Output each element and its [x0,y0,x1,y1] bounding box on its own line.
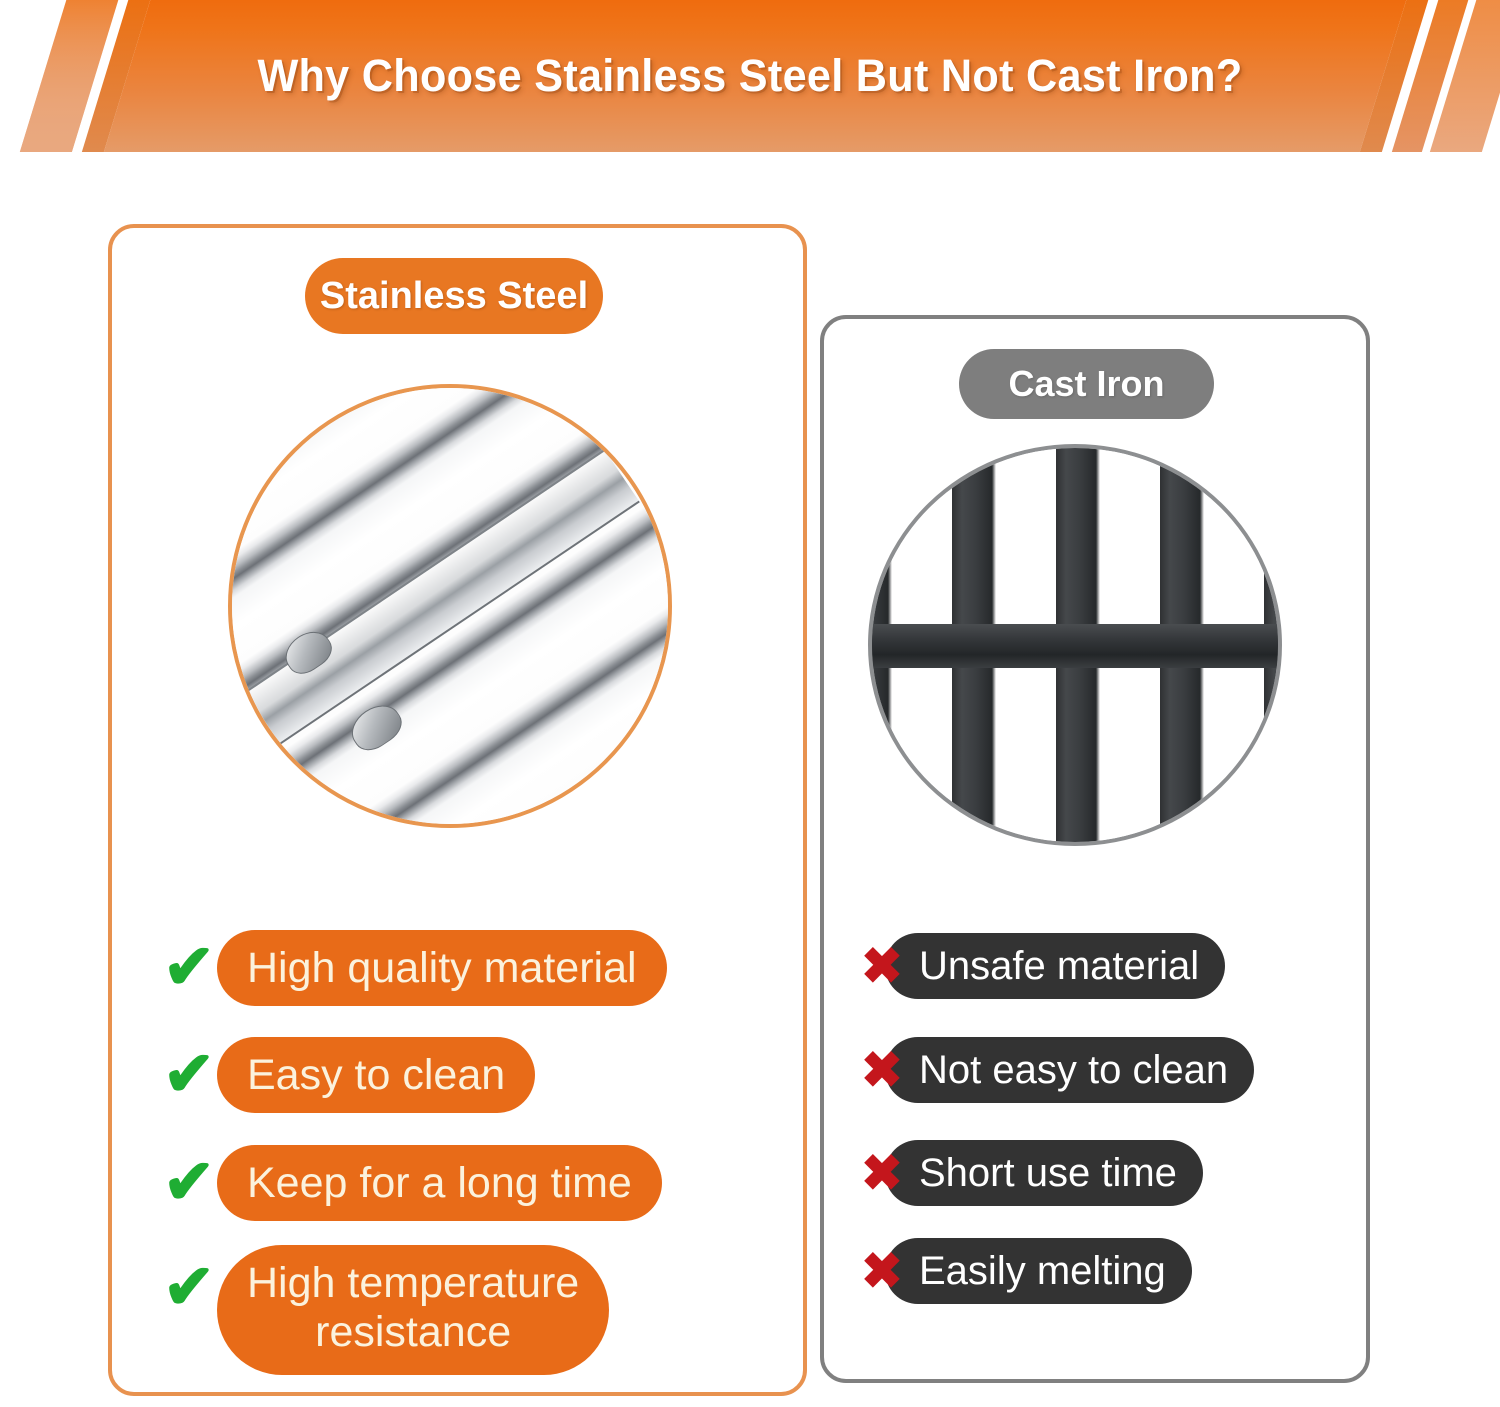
feature-pill-con: Not easy to clean [885,1037,1254,1103]
page-title: Why Choose Stainless Steel But Not Cast … [30,0,1470,152]
cross-icon: ✖ [861,941,911,991]
header-banner: Why Choose Stainless Steel But Not Cast … [0,0,1500,152]
cross-icon: ✖ [861,1045,911,1095]
feature-row-con: ✖ Not easy to clean [861,1037,1254,1103]
check-icon: ✔ [163,937,225,999]
check-icon: ✔ [163,1044,225,1106]
cross-icon: ✖ [861,1148,911,1198]
check-icon: ✔ [163,1152,225,1214]
feature-row-pro: ✔ High temperature resistance [163,1245,609,1375]
feature-row-pro: ✔ Easy to clean [163,1037,535,1113]
feature-row-con: ✖ Easily melting [861,1238,1192,1304]
feature-pill-pro: High quality material [217,930,667,1006]
feature-row-con: ✖ Unsafe material [861,933,1225,999]
stainless-steel-badge: Stainless Steel [305,258,603,334]
feature-pill-line-1: High temperature [247,1259,579,1308]
feature-pill-con: Unsafe material [885,933,1225,999]
check-icon: ✔ [163,1257,225,1319]
feature-row-con: ✖ Short use time [861,1140,1203,1206]
feature-pill-con: Easily melting [885,1238,1192,1304]
feature-row-pro: ✔ Keep for a long time [163,1145,662,1221]
cast-iron-badge: Cast Iron [959,349,1214,419]
feature-pill-line-2: resistance [315,1308,511,1357]
feature-pill-pro: Keep for a long time [217,1145,662,1221]
cross-icon: ✖ [861,1246,911,1296]
feature-pill-con: Short use time [885,1140,1203,1206]
iron-crossbar [868,624,1282,668]
cast-iron-grate-photo [868,444,1282,846]
stainless-steel-grate-photo [228,384,672,828]
feature-row-pro: ✔ High quality material [163,930,667,1006]
feature-pill-pro: High temperature resistance [217,1245,609,1375]
feature-pill-pro: Easy to clean [217,1037,535,1113]
